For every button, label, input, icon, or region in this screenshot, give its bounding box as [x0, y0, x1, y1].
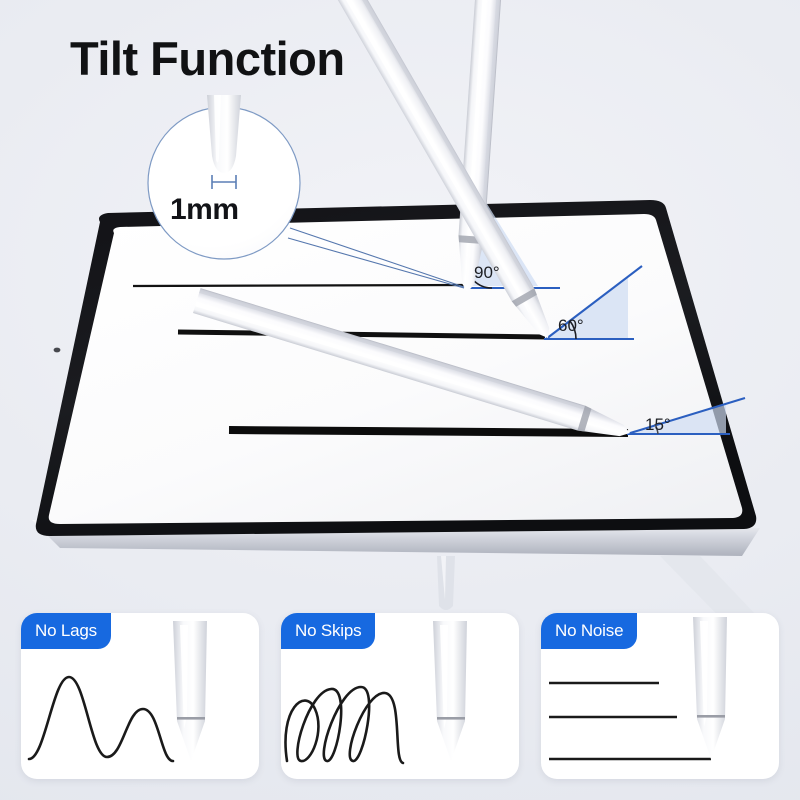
page-title: Tilt Function — [70, 34, 345, 83]
angle-label-60: 60° — [558, 316, 584, 336]
feature-card-no-lags[interactable]: No Lags — [21, 613, 259, 779]
tablet-device — [32, 200, 760, 556]
stylus-tip-icon — [693, 617, 727, 759]
wave-curve — [29, 677, 173, 761]
angle-label-90: 90° — [474, 263, 500, 283]
card1-pen-collar — [177, 717, 205, 720]
camera-dot — [54, 348, 61, 353]
infographic-root: Tilt Function 1mm 90° 60° 15° No Lags No… — [0, 0, 800, 800]
card3-pen-body — [693, 617, 727, 759]
stylus-tip-icon — [433, 621, 467, 761]
zigzag-loop-curve — [285, 687, 403, 763]
badge-no-skips: No Skips — [281, 613, 375, 649]
card3-pen-collar — [697, 715, 725, 718]
stroke-thin-90 — [133, 285, 466, 286]
card2-pen-collar — [437, 717, 465, 720]
badge-no-lags: No Lags — [21, 613, 111, 649]
card1-pen-body — [173, 621, 207, 761]
card2-pen-body — [433, 621, 467, 761]
feature-card-no-skips[interactable]: No Skips — [281, 613, 519, 779]
feature-card-no-noise[interactable]: No Noise — [541, 613, 779, 779]
feature-cards: No Lags No Skips — [0, 613, 800, 788]
angle-label-15: 15° — [645, 415, 671, 435]
badge-no-noise: No Noise — [541, 613, 637, 649]
magnifier-circle — [148, 95, 300, 259]
shaft-lower — [437, 556, 455, 610]
magnifier-measurement-label: 1mm — [170, 193, 239, 227]
stylus-tip-icon — [173, 621, 207, 761]
stroke-thick-15 — [229, 430, 628, 433]
